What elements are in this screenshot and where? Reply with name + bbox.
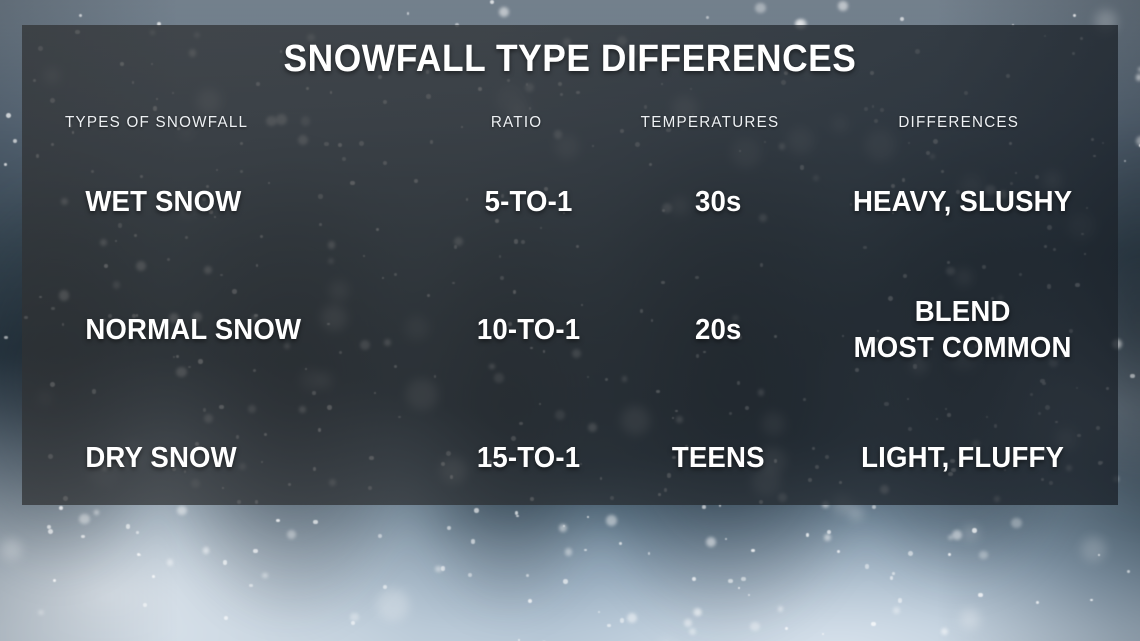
cell-difference: LIGHT, FLUFFY	[815, 440, 1111, 476]
cell-temperature: TEENS	[635, 440, 803, 476]
table-row: DRY SNOW 15-TO-1 TEENS LIGHT, FLUFFY	[22, 394, 1118, 522]
cell-snow-type: NORMAL SNOW	[32, 312, 417, 348]
cell-difference: BLEND MOST COMMON	[815, 294, 1111, 366]
cell-difference-line-1: LIGHT, FLUFFY	[815, 440, 1111, 476]
cell-snow-type: WET SNOW	[32, 184, 417, 220]
table-row: WET SNOW 5-TO-1 30s HEAVY, SLUSHY	[22, 138, 1118, 266]
cell-difference-line-1: BLEND	[815, 294, 1111, 330]
cell-difference: HEAVY, SLUSHY	[815, 184, 1111, 220]
snowfall-table: TYPES OF SNOWFALL RATIO TEMPERATURES DIF…	[22, 108, 1118, 522]
header-temperatures: TEMPERATURES	[625, 114, 796, 132]
cell-difference-line-1: HEAVY, SLUSHY	[815, 184, 1111, 220]
page-title: SNOWFALL TYPE DIFFERENCES	[40, 38, 1100, 81]
header-differences: DIFFERENCES	[808, 114, 1110, 132]
table-header-row: TYPES OF SNOWFALL RATIO TEMPERATURES DIF…	[22, 108, 1118, 138]
header-ratio: RATIO	[418, 114, 615, 132]
cell-snow-type: DRY SNOW	[32, 440, 417, 476]
cell-temperature: 20s	[635, 312, 803, 348]
header-types-of-snowfall: TYPES OF SNOWFALL	[32, 114, 404, 132]
cell-ratio: 10-TO-1	[432, 312, 625, 348]
cell-temperature: 30s	[635, 184, 803, 220]
table-row: NORMAL SNOW 10-TO-1 20s BLEND MOST COMMO…	[22, 266, 1118, 394]
weather-graphic: SNOWFALL TYPE DIFFERENCES TYPES OF SNOWF…	[0, 0, 1140, 641]
cell-difference-line-2: MOST COMMON	[815, 330, 1111, 366]
cell-ratio: 15-TO-1	[432, 440, 625, 476]
cell-ratio: 5-TO-1	[432, 184, 625, 220]
